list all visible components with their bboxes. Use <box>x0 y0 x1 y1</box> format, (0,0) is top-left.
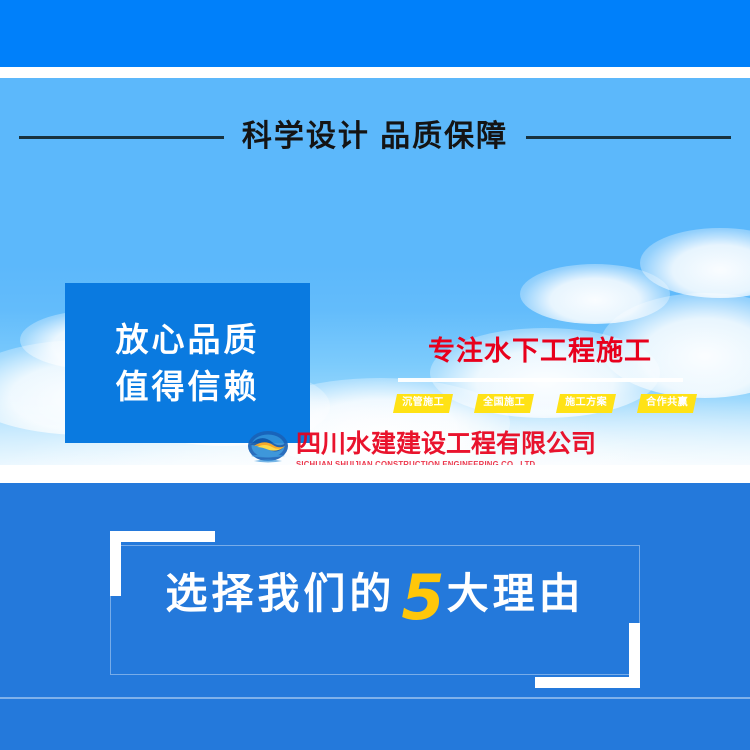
reasons-title-number: 5 <box>401 561 444 634</box>
quality-line-2: 值得信赖 <box>116 370 260 403</box>
service-badge: 全国施工 <box>474 394 534 413</box>
reasons-title-suffix: 大理由 <box>447 570 585 617</box>
service-badge-label: 合作共赢 <box>646 398 688 408</box>
service-badge-label: 施工方案 <box>565 398 607 408</box>
page-title: 科学设计 品质保障 <box>242 122 508 152</box>
top-blue-band <box>0 0 750 67</box>
quality-line-1: 放心品质 <box>116 323 260 356</box>
sky-banner: 科学设计 品质保障 放心品质 值得信赖 专注水下工程施工 沉管施工 全国施工 施… <box>0 78 750 465</box>
reasons-panel: 选择我们的5大理由 <box>0 483 750 750</box>
service-badge: 沉管施工 <box>393 394 453 413</box>
company-watermark-text: 四川水建建设工程有限公司 SICHUAN SHUIJIAN CONSTRUCTI… <box>296 432 596 466</box>
panel-hairline-divider <box>0 697 750 699</box>
headline-rule-right <box>526 136 731 139</box>
company-watermark: 四川水建建设工程有限公司 SICHUAN SHUIJIAN CONSTRUCTI… <box>247 430 596 465</box>
service-badge-row: 沉管施工 全国施工 施工方案 合作共赢 <box>395 394 695 413</box>
reasons-title: 选择我们的5大理由 <box>0 563 750 625</box>
service-badge-label: 全国施工 <box>483 398 525 408</box>
wave-circle-logo-icon <box>247 430 289 465</box>
slogan-text: 专注水下工程施工 <box>395 336 685 367</box>
company-name-en: SICHUAN SHUIJIAN CONSTRUCTION ENGINEERIN… <box>296 460 587 466</box>
quality-callout-box: 放心品质 值得信赖 <box>65 283 310 443</box>
headline-rule-left <box>19 136 224 139</box>
reasons-title-prefix: 选择我们的 <box>165 570 395 617</box>
slogan-divider <box>398 378 683 382</box>
company-name-cn: 四川水建建设工程有限公司 <box>296 432 596 457</box>
corner-bracket-bottom-right <box>535 623 640 688</box>
service-badge-label: 沉管施工 <box>402 398 444 408</box>
banner-headline-row: 科学设计 品质保障 <box>0 122 750 152</box>
service-badge: 施工方案 <box>556 394 616 413</box>
slogan-block: 专注水下工程施工 沉管施工 全国施工 施工方案 合作共赢 <box>395 336 685 413</box>
service-badge: 合作共赢 <box>637 394 697 413</box>
